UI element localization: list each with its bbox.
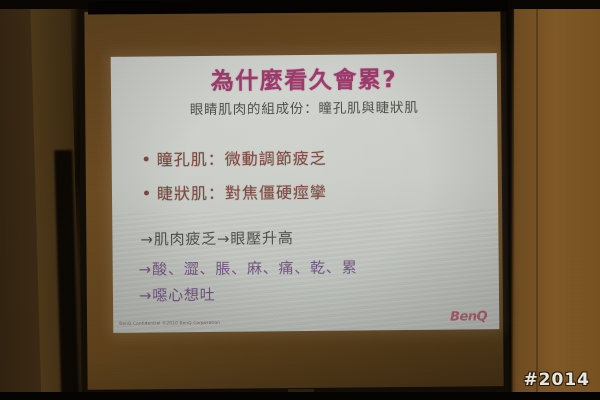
slide-subtitle: 眼睛肌肉的組成份：瞳孔肌與睫狀肌 <box>111 95 497 119</box>
slide-arrow-line-symptoms: →酸、澀、脹、麻、痛、乾、累 <box>139 257 358 280</box>
slide-bullet-list: 瞳孔肌：微動調節疲乏 睫狀肌：對焦僵硬痙攣 <box>144 143 475 214</box>
slide-footer-copyright: BenQ Confidential ©2010 BenQ Corporation <box>119 320 220 326</box>
slide-bullet-label: 睫狀肌：對焦僵硬痙攣 <box>157 179 327 205</box>
slide-arrow-line-nausea: →噁心想吐 <box>139 284 216 306</box>
bullet-dot-icon <box>144 156 149 161</box>
benq-logo: BenQ <box>450 309 487 324</box>
projected-slide: 為什麼看久會累? 眼睛肌肉的組成份：瞳孔肌與睫狀肌 瞳孔肌：微動調節疲乏 睫狀肌… <box>111 53 500 333</box>
slide-title: 為什麼看久會累? <box>111 59 497 97</box>
slide-arrow-line-fatigue: →肌肉疲乏→眼壓升高 <box>140 227 293 249</box>
floor-dark-bar <box>0 392 600 400</box>
wall-right-panel <box>514 0 600 400</box>
slide-bullet-item: 瞳孔肌：微動調節疲乏 <box>144 143 474 170</box>
slide-bullet-label: 瞳孔肌：微動調節疲乏 <box>157 145 327 171</box>
photo-watermark: #2014 <box>523 370 590 390</box>
photo-scene: 為什麼看久會累? 眼睛肌肉的組成份：瞳孔肌與睫狀肌 瞳孔肌：微動調節疲乏 睫狀肌… <box>0 0 600 400</box>
wall-right-seam <box>536 0 538 400</box>
slide-bullet-item: 睫狀肌：對焦僵硬痙攣 <box>144 177 474 204</box>
bullet-dot-icon <box>144 190 149 195</box>
